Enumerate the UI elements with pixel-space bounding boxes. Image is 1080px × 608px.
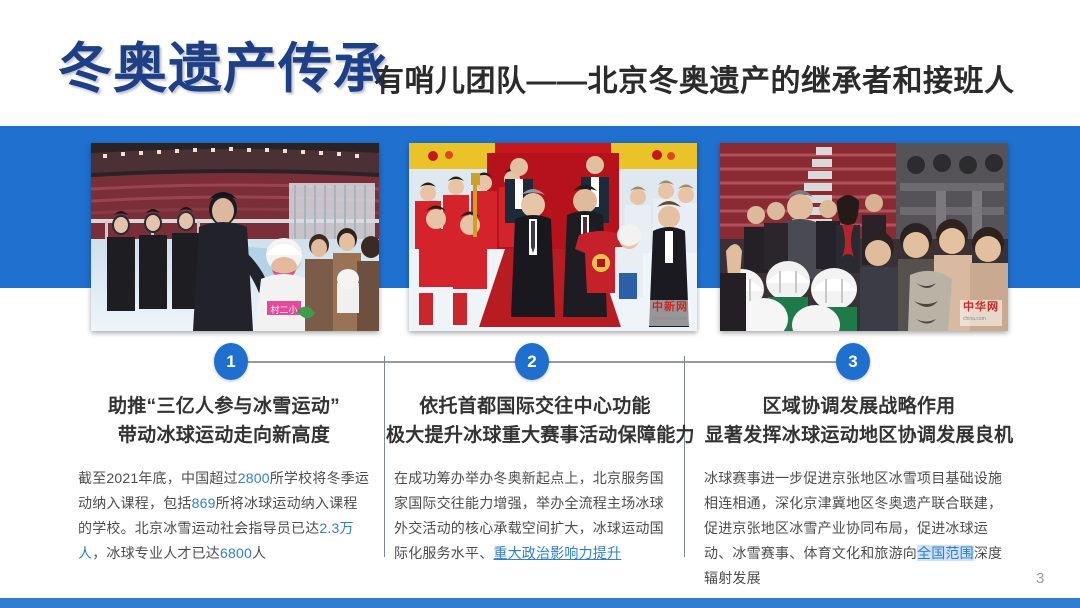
column-3-heading-line-1: 区域协调发展战略作用 — [694, 392, 1024, 421]
photo-card-2: 中新网 chinanews.com — [409, 143, 697, 331]
body-text-segment: 人 — [252, 545, 266, 561]
body-text-segment: 6800 — [220, 545, 252, 561]
column-1-heading: 助推“三亿人参与冰雪运动” 带动冰球运动走向新高度 — [68, 392, 380, 450]
page-subtitle: 有哨儿团队——北京冬奥遗产的继承者和接班人 — [374, 64, 1015, 100]
page-title: 冬奥遗产传承 — [58, 38, 388, 100]
photo-card-1: 村二小 — [91, 143, 379, 331]
column-2-heading-line-1: 依托首都国际交往中心功能 — [386, 392, 684, 421]
column-1-heading-line-1: 助推“三亿人参与冰雪运动” — [68, 392, 380, 421]
body-text-segment: 全国范围 — [917, 545, 974, 561]
photo-1-image: 村二小 — [91, 143, 379, 331]
step-node-1[interactable]: 1 — [214, 343, 248, 380]
photo-card-3: 中华网 china.com — [720, 143, 1008, 331]
presentation-slide: 冬奥遗产传承 有哨儿团队——北京冬奥遗产的继承者和接班人 — [0, 0, 1080, 608]
column-2-heading: 依托首都国际交往中心功能 极大提升冰球重大赛事活动保障能力 — [386, 392, 684, 450]
body-text-segment: 重大政治影响力提升 — [493, 545, 621, 561]
column-divider-2 — [684, 356, 685, 557]
column-2-body: 在成功筹办举办冬奥新起点上，北京服务国家国际交往能力增强，举办全流程主场冰球外交… — [386, 466, 684, 566]
body-text-segment: ，冰球专业人才已达 — [92, 545, 220, 561]
content-column-3: 区域协调发展战略作用 显著发挥冰球运动地区协调发展良机 冰球赛事进一步促进京张地… — [694, 392, 1024, 591]
body-text-segment: 截至2021年底，中国超过 — [78, 470, 238, 486]
content-column-2: 依托首都国际交往中心功能 极大提升冰球重大赛事活动保障能力 在成功筹办举办冬奥新… — [386, 392, 684, 566]
column-divider-1 — [384, 356, 385, 557]
column-3-heading: 区域协调发展战略作用 显著发挥冰球运动地区协调发展良机 — [694, 392, 1024, 450]
footer-accent-bar — [0, 598, 1080, 608]
body-text-segment: 869 — [192, 495, 216, 511]
page-number: 3 — [1036, 570, 1044, 587]
photo-3-watermark: 中华网 china.com — [960, 300, 1002, 326]
slide-header: 冬奥遗产传承 有哨儿团队——北京冬奥遗产的继承者和接班人 — [0, 0, 1080, 126]
photo-2-watermark: 中新网 chinanews.com — [649, 300, 691, 326]
column-3-heading-line-2: 显著发挥冰球运动地区协调发展良机 — [694, 421, 1024, 450]
column-1-heading-line-2: 带动冰球运动走向新高度 — [68, 421, 380, 450]
content-column-1: 助推“三亿人参与冰雪运动” 带动冰球运动走向新高度 截至2021年底，中国超过2… — [68, 392, 380, 566]
column-1-body: 截至2021年底，中国超过2800所学校将冬季运动纳入课程，包括869所将冰球运… — [68, 466, 380, 566]
step-node-3[interactable]: 3 — [836, 343, 870, 380]
svg-text:村二小: 村二小 — [270, 304, 297, 315]
column-2-heading-line-2: 极大提升冰球重大赛事活动保障能力 — [386, 421, 684, 450]
body-text-segment: 2800 — [238, 470, 270, 486]
step-node-2[interactable]: 2 — [515, 343, 549, 380]
column-3-body: 冰球赛事进一步促进京张地区冰雪项目基础设施相连相通，深化京津冀地区冬奥遗产联合联… — [694, 466, 1024, 591]
